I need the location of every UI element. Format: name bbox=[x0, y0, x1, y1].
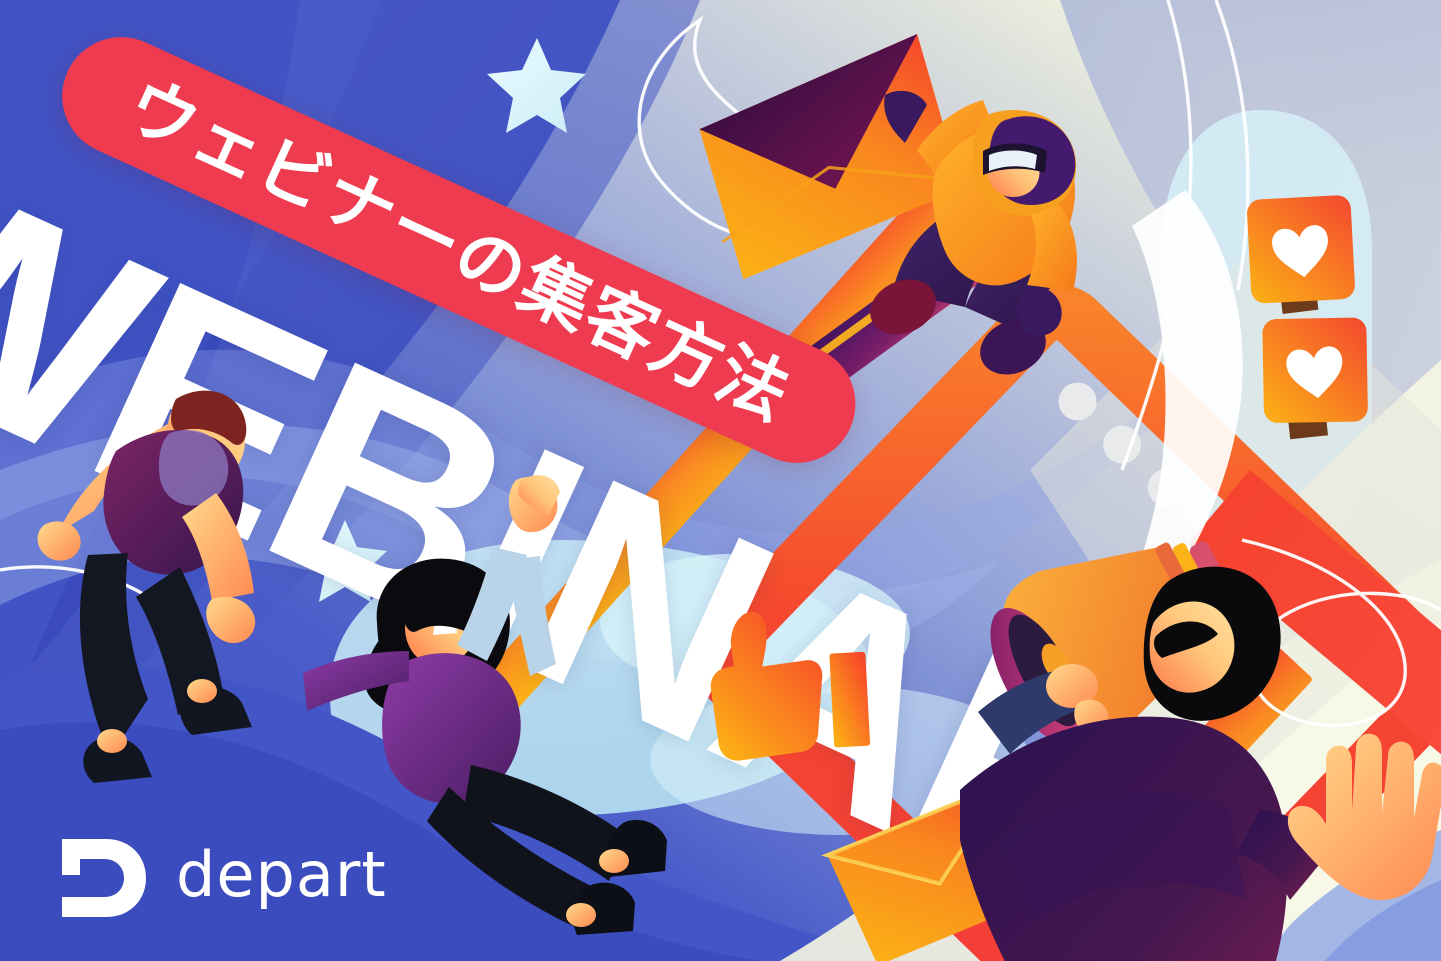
brand-name: depart bbox=[176, 844, 387, 912]
falling-man bbox=[38, 391, 256, 783]
like-heart-badge-2 bbox=[1253, 308, 1378, 441]
depart-d-mark-icon bbox=[58, 835, 150, 921]
webinar-poster: WEBINAR bbox=[0, 0, 1441, 961]
open-hand bbox=[1288, 734, 1441, 900]
thumbs-up-icon bbox=[701, 597, 878, 767]
brand-logo[interactable]: depart bbox=[58, 835, 387, 921]
glove-right bbox=[1017, 286, 1062, 336]
like-heart-badge-1 bbox=[1239, 187, 1363, 317]
megaphone-man bbox=[960, 495, 1441, 961]
